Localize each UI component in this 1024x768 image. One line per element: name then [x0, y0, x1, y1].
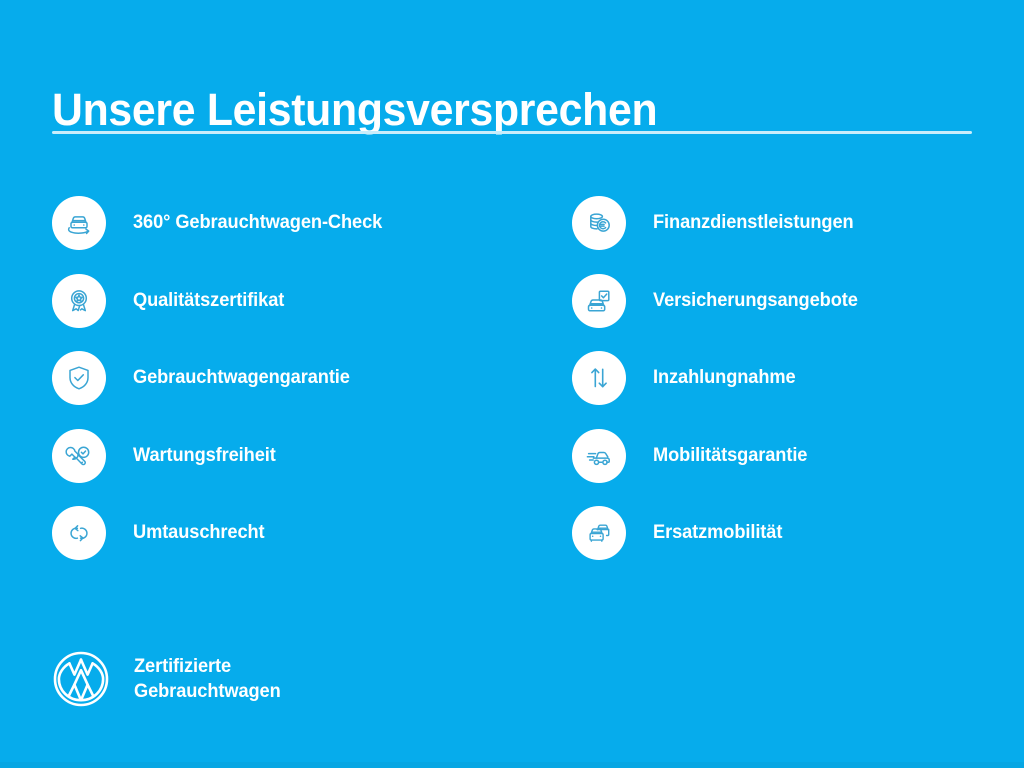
benefit-item-maintenance-free[interactable]: Wartungsfreiheit: [52, 429, 512, 507]
benefit-label: 360° Gebrauchtwagen-Check: [133, 211, 382, 235]
benefit-label: Mobilitätsgarantie: [653, 444, 807, 468]
promise-banner: Unsere Leistungsversprechen 360° Ge: [0, 0, 1024, 768]
benefits-right-column: Finanzdienstleistungen Versicherungsange…: [572, 196, 1024, 584]
benefit-item-360-check[interactable]: 360° Gebrauchtwagen-Check: [52, 196, 512, 274]
wrench-check-icon: [52, 429, 106, 483]
benefit-item-exchange-right[interactable]: Umtauschrecht: [52, 506, 512, 584]
volkswagen-logo: [52, 650, 110, 708]
car-360-check-icon: [52, 196, 106, 250]
benefit-item-replacement-mobility[interactable]: Ersatzmobilität: [572, 506, 1024, 584]
benefit-item-warranty[interactable]: Gebrauchtwagengarantie: [52, 351, 512, 429]
benefit-label: Versicherungsangebote: [653, 289, 858, 313]
benefit-label: Finanzdienstleistungen: [653, 211, 854, 235]
benefit-label: Wartungsfreiheit: [133, 444, 276, 468]
benefit-item-financial-services[interactable]: Finanzdienstleistungen: [572, 196, 1024, 274]
coins-euro-icon: [572, 196, 626, 250]
benefit-item-quality-certificate[interactable]: Qualitätszertifikat: [52, 274, 512, 352]
footer-text: Zertifizierte Gebrauchtwagen: [134, 654, 281, 704]
footer-line-1: Zertifizierte: [134, 654, 281, 679]
benefit-label: Qualitätszertifikat: [133, 289, 284, 313]
two-cars-icon: [572, 506, 626, 560]
benefit-item-insurance-offers[interactable]: Versicherungsangebote: [572, 274, 1024, 352]
benefit-label: Gebrauchtwagengarantie: [133, 366, 350, 390]
benefit-item-trade-in[interactable]: Inzahlungnahme: [572, 351, 1024, 429]
car-motion-icon: [572, 429, 626, 483]
benefit-label: Ersatzmobilität: [653, 521, 782, 545]
exchange-arrows-icon: [52, 506, 106, 560]
title-divider: [52, 131, 972, 134]
up-down-arrows-icon: [572, 351, 626, 405]
page-title: Unsere Leistungsversprechen: [52, 82, 657, 138]
benefits-left-column: 360° Gebrauchtwagen-Check Qualitätszerti…: [52, 196, 512, 584]
benefit-item-mobility-guarantee[interactable]: Mobilitätsgarantie: [572, 429, 1024, 507]
shield-check-icon: [52, 351, 106, 405]
benefit-label: Umtauschrecht: [133, 521, 265, 545]
award-rosette-icon: [52, 274, 106, 328]
footer-line-2: Gebrauchtwagen: [134, 679, 281, 704]
footer-branding: Zertifizierte Gebrauchtwagen: [52, 650, 287, 708]
car-document-check-icon: [572, 274, 626, 328]
bottom-edge-band: [0, 762, 1024, 768]
benefit-label: Inzahlungnahme: [653, 366, 796, 390]
